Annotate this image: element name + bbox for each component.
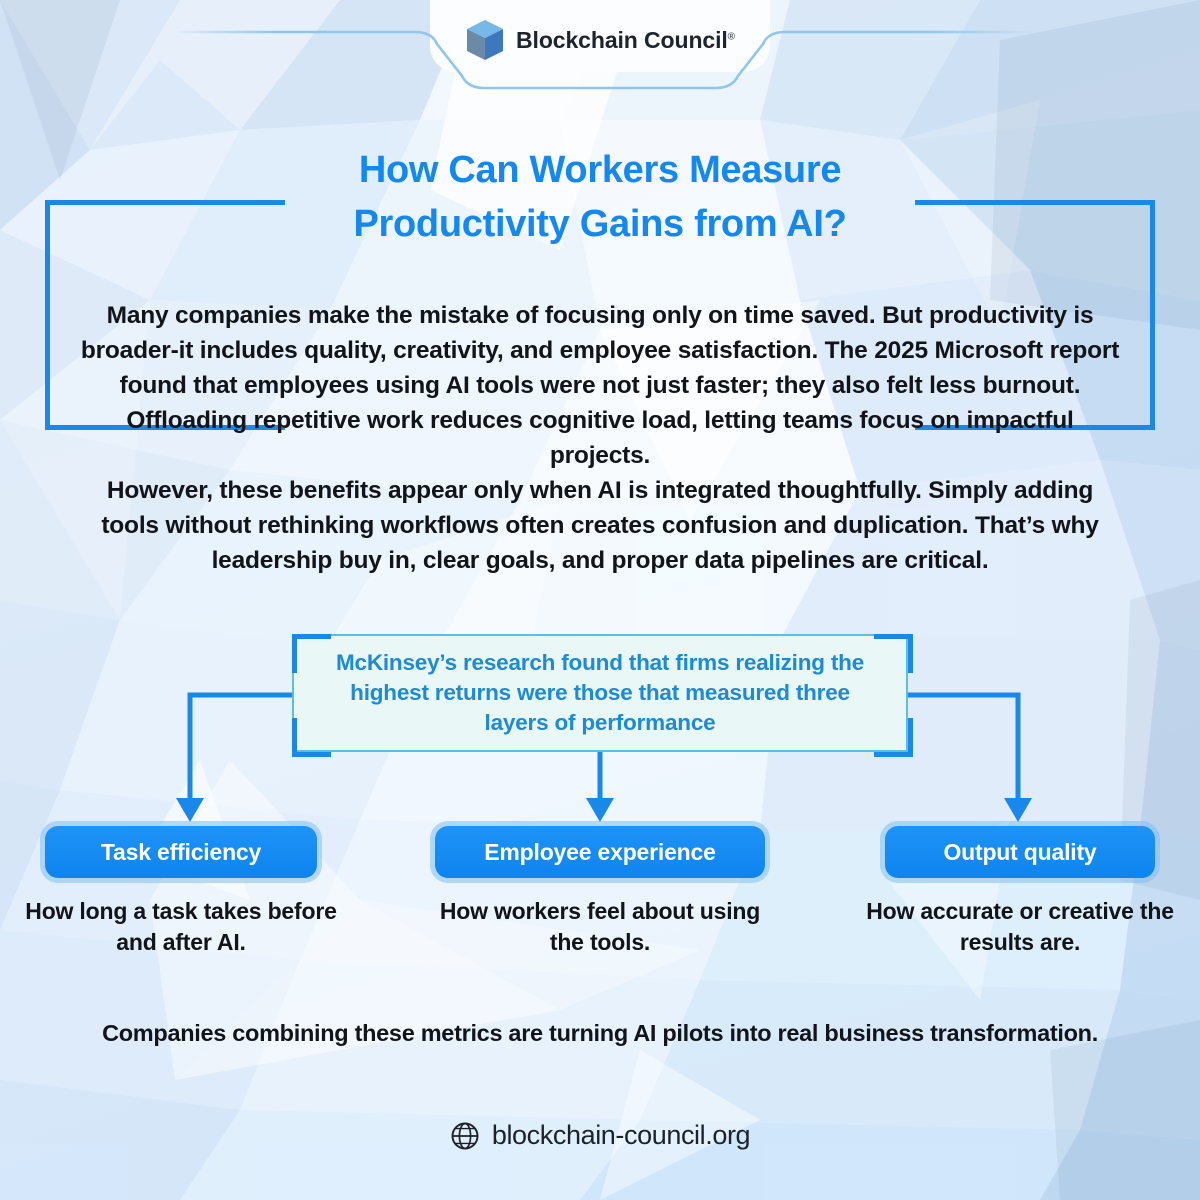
page-title-line-2: Productivity Gains from AI? [150, 198, 1050, 252]
connector-left [190, 695, 292, 800]
footer-url[interactable]: blockchain-council.org [492, 1120, 750, 1151]
page-title-line-1: How Can Workers Measure [150, 144, 1050, 198]
cube-icon [465, 18, 505, 62]
layer-pill-output-quality[interactable]: Output quality [885, 826, 1155, 878]
arrowhead-right [1004, 798, 1032, 822]
closing-statement: Companies combining these metrics are tu… [20, 1020, 1180, 1047]
layer-pill-task-efficiency[interactable]: Task efficiency [45, 826, 317, 878]
layer-caption-task-efficiency: How long a task takes before and after A… [20, 896, 342, 958]
callout-corner-top-right [874, 634, 913, 673]
body-paragraph-1: Many companies make the mistake of focus… [80, 298, 1120, 473]
globe-icon [450, 1121, 480, 1151]
brand-name: Blockchain Council® [516, 27, 735, 54]
connector-right [908, 695, 1018, 800]
callout-corner-top-left [292, 634, 331, 673]
mckinsey-callout-text: McKinsey’s research found that firms rea… [294, 648, 906, 738]
footer: blockchain-council.org [0, 1120, 1200, 1151]
mckinsey-callout-box: McKinsey’s research found that firms rea… [292, 634, 908, 752]
layer-pill-label: Employee experience [484, 839, 715, 866]
arrowhead-center [586, 798, 614, 822]
layer-pill-employee-experience[interactable]: Employee experience [435, 826, 765, 878]
infographic-canvas: Blockchain Council® How Can Workers Meas… [0, 0, 1200, 1200]
registered-mark: ® [728, 31, 735, 42]
brand-logo-row: Blockchain Council® [0, 18, 1200, 62]
page-title: How Can Workers Measure Productivity Gai… [150, 144, 1050, 252]
layer-pill-label: Task efficiency [101, 839, 261, 866]
callout-corner-bottom-right [874, 718, 913, 757]
brand-name-text: Blockchain Council [516, 27, 728, 53]
body-paragraph-2: However, these benefits appear only when… [80, 473, 1120, 578]
callout-corner-bottom-left [292, 718, 331, 757]
layer-caption-output-quality: How accurate or creative the results are… [860, 896, 1180, 958]
layer-caption-employee-experience: How workers feel about using the tools. [430, 896, 770, 958]
arrowhead-left [176, 798, 204, 822]
layer-pill-label: Output quality [943, 839, 1096, 866]
